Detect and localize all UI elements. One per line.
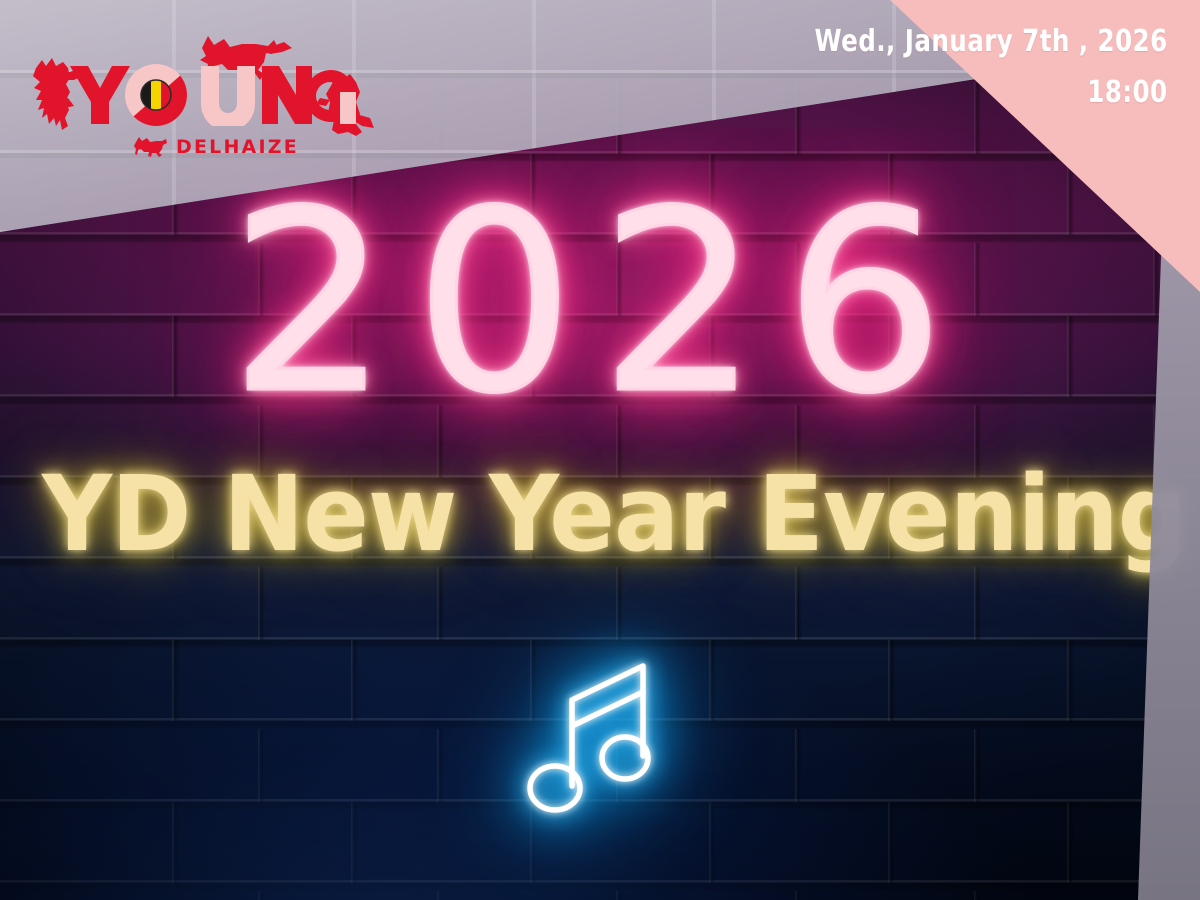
wordmark-letter-y bbox=[70, 66, 130, 124]
young-wordmark bbox=[68, 64, 358, 126]
event-poster: 2026 YD New Year Evening Wed., January 7… bbox=[0, 0, 1200, 900]
wordmark-letter-u bbox=[201, 66, 255, 126]
event-title: YD New Year Evening bbox=[42, 462, 1158, 566]
event-date: Wed., January 7th , 2026 bbox=[815, 24, 1168, 61]
delhaize-label: DELHAIZE bbox=[176, 138, 299, 157]
wordmark-letter-o bbox=[118, 64, 198, 126]
event-time: 18:00 bbox=[815, 75, 1168, 112]
delhaize-sub-brand: DELHAIZE bbox=[134, 136, 299, 158]
event-schedule: Wed., January 7th , 2026 18:00 bbox=[737, 24, 1168, 111]
belgian-flag-roundel bbox=[141, 80, 171, 110]
wordmark-letter-n bbox=[262, 66, 312, 124]
young-delhaize-logo: DELHAIZE bbox=[16, 14, 376, 164]
wordmark-letter-g bbox=[305, 70, 356, 124]
delhaize-lion-icon bbox=[134, 136, 168, 158]
music-note-icon bbox=[525, 638, 675, 818]
